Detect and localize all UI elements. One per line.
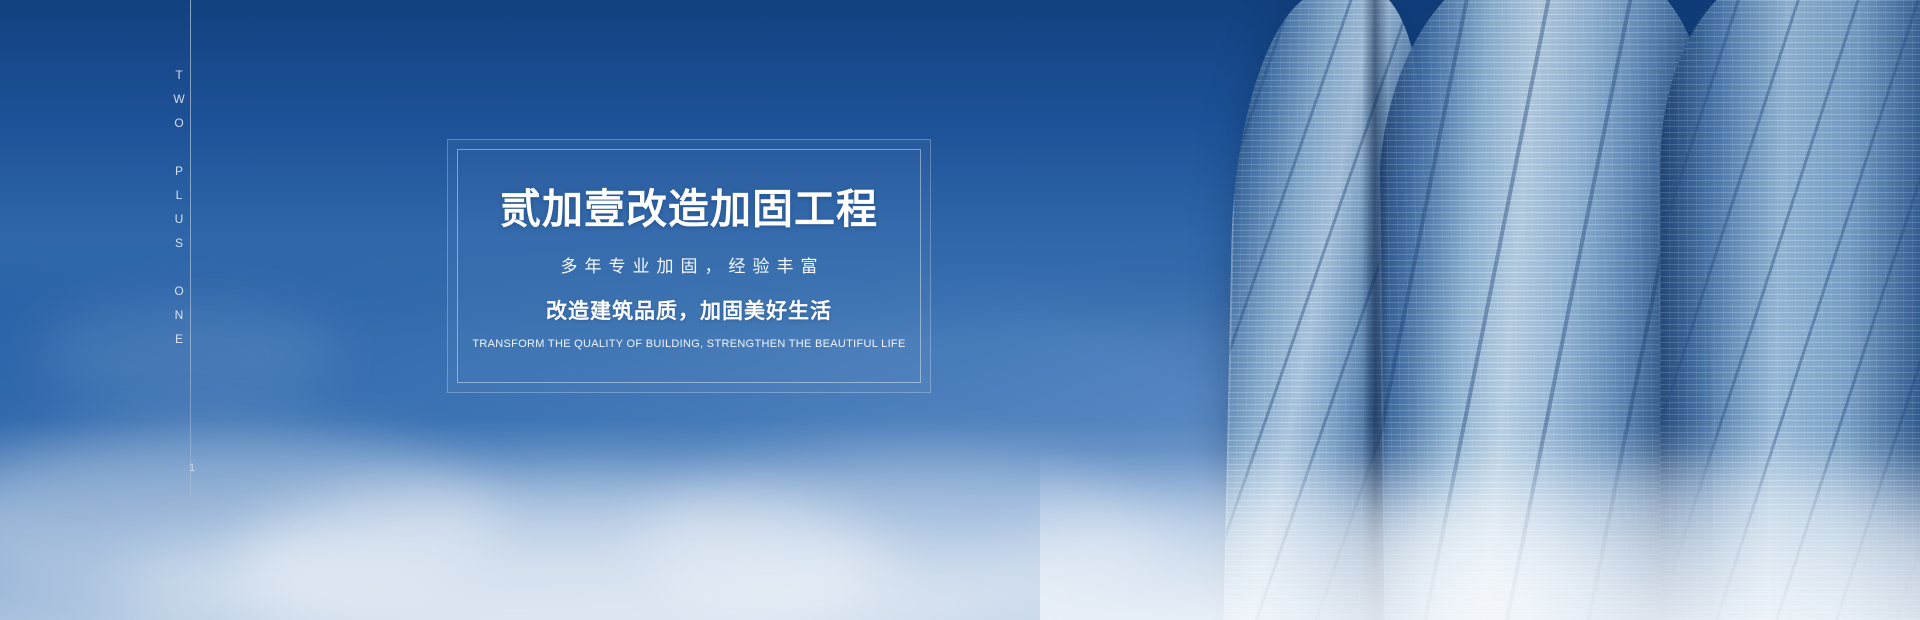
tower-center-icon: [1375, 0, 1714, 620]
hero-tagline: 改造建筑品质，加固美好生活: [546, 299, 832, 324]
sky-gradient: [0, 0, 1920, 341]
cloud-bank: [1380, 470, 1920, 620]
hero-text-frame: 贰加壹改造加固工程 多年专业加固，经验丰富 改造建筑品质，加固美好生活 TRAN…: [447, 139, 931, 393]
hero-subtitle: 多年专业加固，经验丰富: [554, 257, 825, 277]
tower-floor-lines: [1375, 0, 1714, 620]
tower-right-icon: [1660, 0, 1920, 620]
cloud-bank: [0, 430, 500, 610]
cloud-bank: [640, 455, 1160, 620]
hero-text-content: 贰加壹改造加固工程 多年专业加固，经验丰富 改造建筑品质，加固美好生活 TRAN…: [448, 140, 930, 392]
page-title: 贰加壹改造加固工程: [500, 187, 878, 232]
tower-left-icon: [1223, 0, 1426, 620]
tower-floor-lines: [1660, 0, 1920, 620]
brand-rail: TWO PLUS ONE 1: [150, 0, 240, 620]
skyscraper-illustration: [1040, 0, 1920, 620]
vertical-divider: [190, 0, 191, 495]
tower-spiral-ribs: [1223, 0, 1426, 620]
brand-vertical-text: TWO PLUS ONE: [172, 68, 186, 356]
tower-spiral-ribs: [1660, 0, 1920, 620]
tower-mullion-lines: [1660, 0, 1920, 620]
tower-spiral-ribs: [1375, 0, 1714, 620]
slide-number: 1: [186, 462, 198, 474]
hero-banner: TWO PLUS ONE 1 贰加壹改造加固工程 多年专业加固，经验丰富 改造建…: [0, 0, 1920, 620]
cloud-bank: [980, 495, 1600, 620]
tower-edge-highlight: [1375, 0, 1386, 620]
tower-mullion-lines: [1375, 0, 1714, 620]
cloud-bank: [240, 470, 880, 620]
bottom-haze: [0, 420, 1920, 620]
tower-mullion-lines: [1223, 0, 1426, 620]
tower-floor-lines: [1223, 0, 1426, 620]
tower-gap-shadow: [1362, 0, 1388, 620]
hero-english-tagline: TRANSFORM THE QUALITY OF BUILDING, STREN…: [472, 337, 905, 351]
cloud-bank: [120, 520, 1020, 620]
tower-base-fog: [1040, 450, 1920, 620]
tower-edge-highlight: [1223, 0, 1238, 620]
